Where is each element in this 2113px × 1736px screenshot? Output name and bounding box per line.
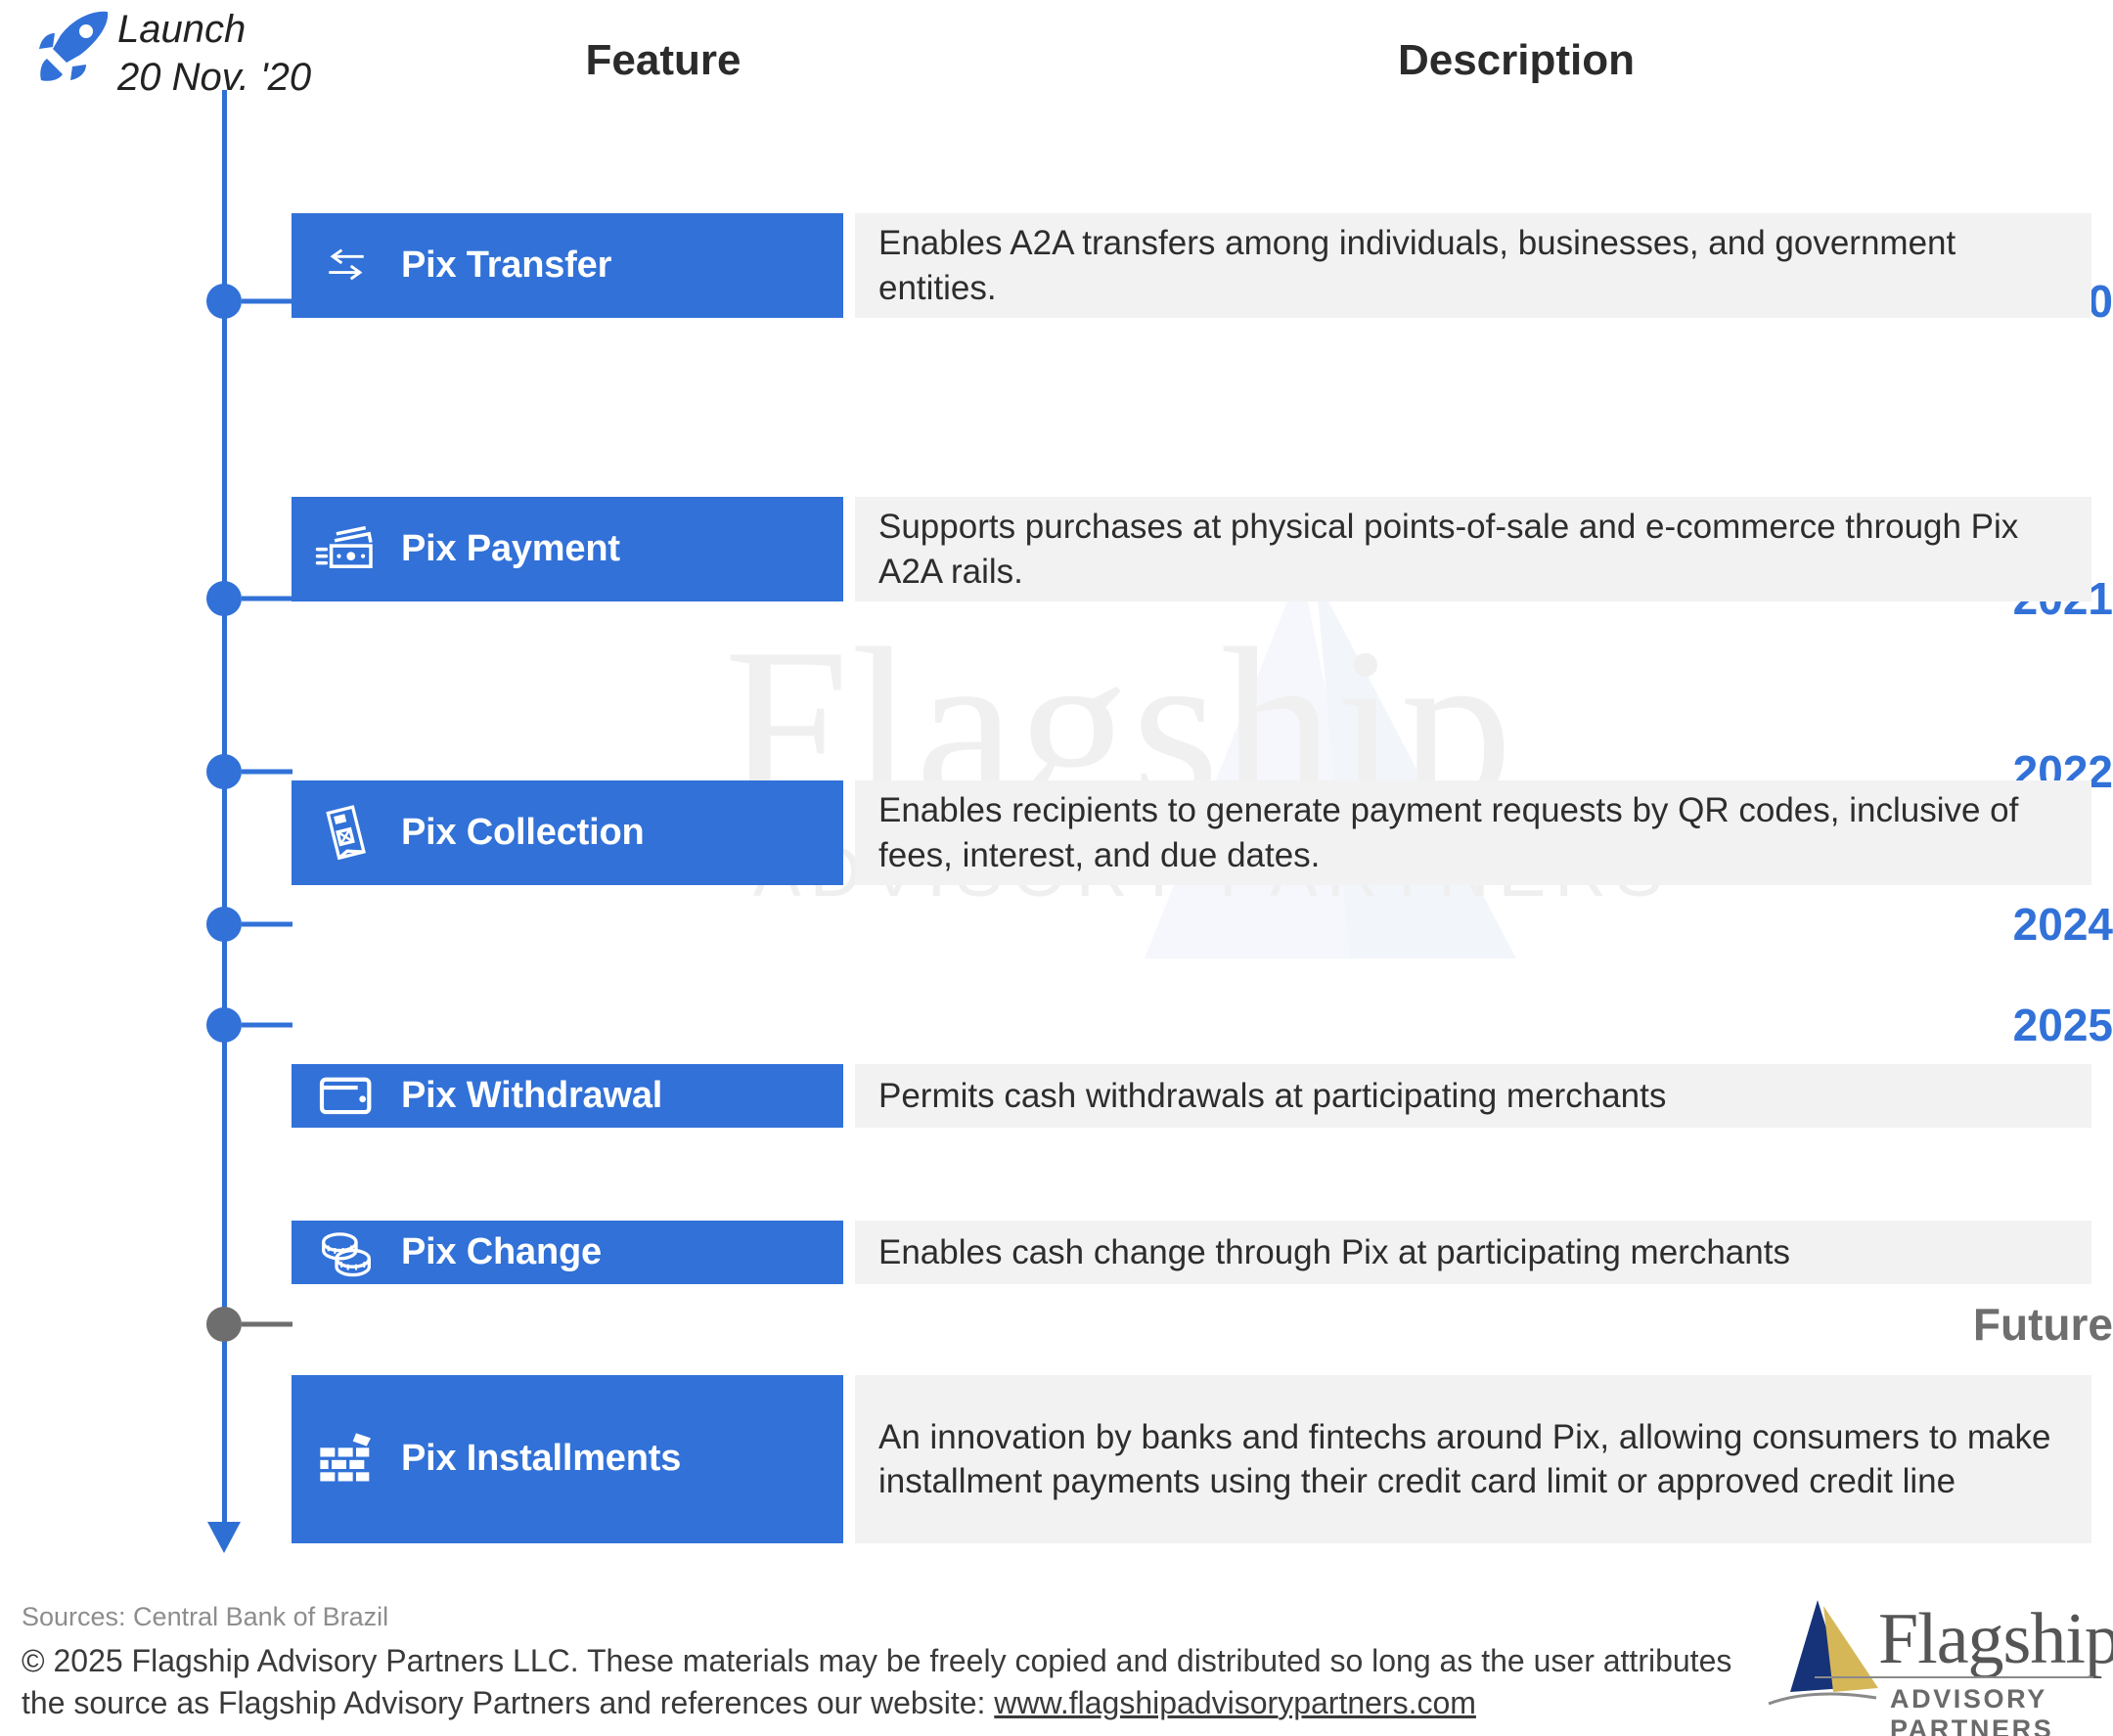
feature-row: Pix Credit (September 2025) Unlike Pix I… bbox=[0, 1244, 2113, 1404]
feature-column-header: Feature bbox=[497, 36, 830, 85]
logo-tagline: ADVISORY PARTNERS bbox=[1890, 1684, 2113, 1736]
rocket-icon bbox=[37, 8, 115, 84]
website-link[interactable]: www.flagshipadvisorypartners.com bbox=[994, 1685, 1476, 1720]
feature-row: Pix Installments An innovation by banks … bbox=[0, 688, 2113, 856]
feature-row: International Pix (No date announced) En… bbox=[0, 1418, 2113, 1542]
launch-line-2: 20 Nov. '20 bbox=[117, 54, 311, 102]
feature-row: Pix Collection Enables recipients to gen… bbox=[0, 390, 2113, 495]
feature-row: Pix Transfer Enables A2A transfers among… bbox=[0, 107, 2113, 211]
feature-row: Automatic Pix (June 2025) Direct debit f… bbox=[0, 1070, 2113, 1230]
sources-text: Sources: Central Bank of Brazil bbox=[22, 1602, 1743, 1632]
feature-row: Pix Payment Supports purchases at physic… bbox=[0, 248, 2113, 353]
copyright-text: © 2025 Flagship Advisory Partners LLC. T… bbox=[22, 1640, 1743, 1723]
logo-rule bbox=[1815, 1676, 2093, 1678]
launch-label: Launch 20 Nov. '20 bbox=[117, 6, 311, 102]
description-column-header: Description bbox=[1223, 36, 1810, 85]
feature-row: Pix Change Enables cash change through P… bbox=[0, 610, 2113, 674]
feature-row: Contactless Pix Enables mobile point-of-… bbox=[0, 993, 2113, 1056]
footer: Sources: Central Bank of Brazil © 2025 F… bbox=[22, 1602, 1743, 1723]
feature-row: Pix Withdrawal Permits cash withdrawals … bbox=[0, 532, 2113, 596]
logo-wordmark: Flagship bbox=[1878, 1598, 2113, 1681]
feature-row: Recurring Pix Facilitate repeated paymen… bbox=[0, 869, 2113, 979]
launch-line-1: Launch bbox=[117, 6, 311, 54]
infographic-root: Flagship ADVISORY PARTNERS Launch 20 Nov… bbox=[0, 0, 2113, 1736]
timeline-connector bbox=[242, 597, 292, 601]
